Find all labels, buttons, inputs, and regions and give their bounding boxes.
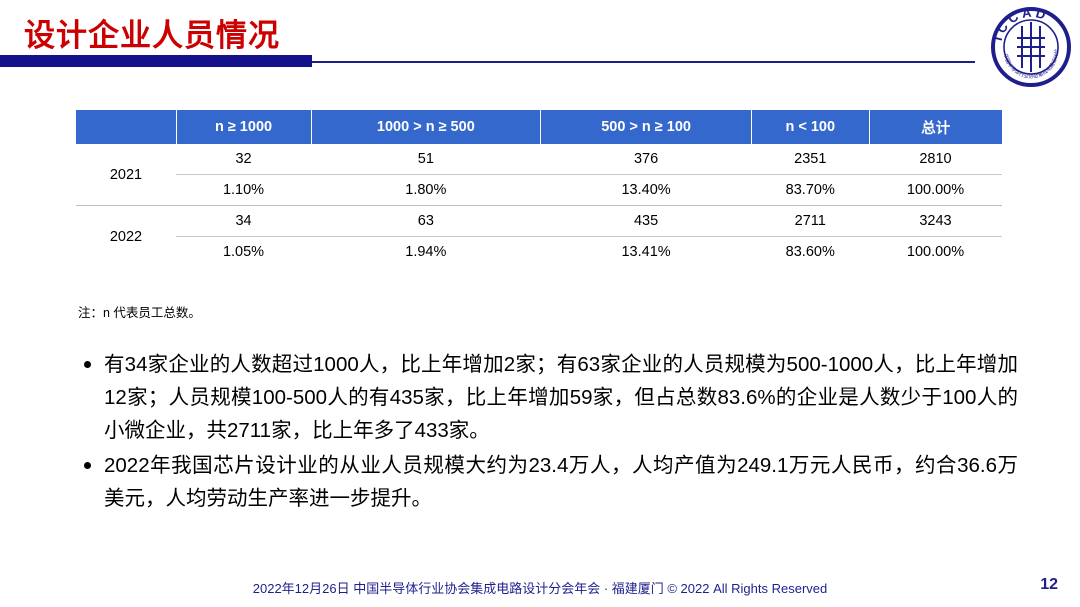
cell-2022-pct-2: 13.41% <box>541 237 752 268</box>
table-header-cell-4: n < 100 <box>752 110 869 144</box>
personnel-table: n ≥ 1000 1000 > n ≥ 500 500 > n ≥ 100 n … <box>76 110 1002 267</box>
table-header-cell-0 <box>76 110 176 144</box>
cell-2022-count-2: 435 <box>541 206 752 237</box>
cell-2021-count-4: 2810 <box>869 144 1002 175</box>
table-header-cell-2: 1000 > n ≥ 500 <box>311 110 541 144</box>
table-header-row: n ≥ 1000 1000 > n ≥ 500 500 > n ≥ 100 n … <box>76 110 1002 144</box>
cell-2021-pct-0: 1.10% <box>176 175 311 206</box>
table-row: 1.10% 1.80% 13.40% 83.70% 100.00% <box>76 175 1002 206</box>
page-title: 设计企业人员情况 <box>24 10 280 55</box>
cell-2022-pct-0: 1.05% <box>176 237 311 268</box>
cell-2021-count-2: 376 <box>541 144 752 175</box>
cell-2021-pct-1: 1.80% <box>311 175 541 206</box>
list-item: 有34家企业的人数超过1000人，比上年增加2家；有63家企业的人员规模为500… <box>78 348 1018 447</box>
table-header-cell-1: n ≥ 1000 <box>176 110 311 144</box>
title-rule-thick <box>0 55 312 67</box>
year-label-2022: 2022 <box>76 206 176 268</box>
table-row: 2021 32 51 376 2351 2810 <box>76 144 1002 175</box>
cell-2021-count-0: 32 <box>176 144 311 175</box>
iccad-logo: I C C A D 中国半导体行业协会集成电路设计分会 <box>990 6 1072 88</box>
cell-2022-count-0: 34 <box>176 206 311 237</box>
cell-2022-count-3: 2711 <box>752 206 869 237</box>
table-row: 1.05% 1.94% 13.41% 83.60% 100.00% <box>76 237 1002 268</box>
cell-2021-count-1: 51 <box>311 144 541 175</box>
table-row: 2022 34 63 435 2711 3243 <box>76 206 1002 237</box>
cell-2021-pct-4: 100.00% <box>869 175 1002 206</box>
year-label-2021: 2021 <box>76 144 176 206</box>
footer-text: 2022年12月26日 中国半导体行业协会集成电路设计分会年会 · 福建厦门 ©… <box>0 578 1080 597</box>
cell-2021-pct-3: 83.70% <box>752 175 869 206</box>
cell-2021-pct-2: 13.40% <box>541 175 752 206</box>
cell-2022-count-1: 63 <box>311 206 541 237</box>
svg-text:I C C A D: I C C A D <box>990 6 1047 42</box>
page-number: 12 <box>1040 576 1058 594</box>
list-item: 2022年我国芯片设计业的从业人员规模大约为23.4万人，人均产值为249.1万… <box>78 449 1018 515</box>
cell-2022-pct-1: 1.94% <box>311 237 541 268</box>
cell-2021-count-3: 2351 <box>752 144 869 175</box>
cell-2022-count-4: 3243 <box>869 206 1002 237</box>
cell-2022-pct-4: 100.00% <box>869 237 1002 268</box>
table-header-cell-5: 总计 <box>869 110 1002 144</box>
bullet-list: 有34家企业的人数超过1000人，比上年增加2家；有63家企业的人员规模为500… <box>78 348 1018 517</box>
cell-2022-pct-3: 83.60% <box>752 237 869 268</box>
table-header-cell-3: 500 > n ≥ 100 <box>541 110 752 144</box>
table-note: 注：n 代表员工总数。 <box>78 302 201 321</box>
